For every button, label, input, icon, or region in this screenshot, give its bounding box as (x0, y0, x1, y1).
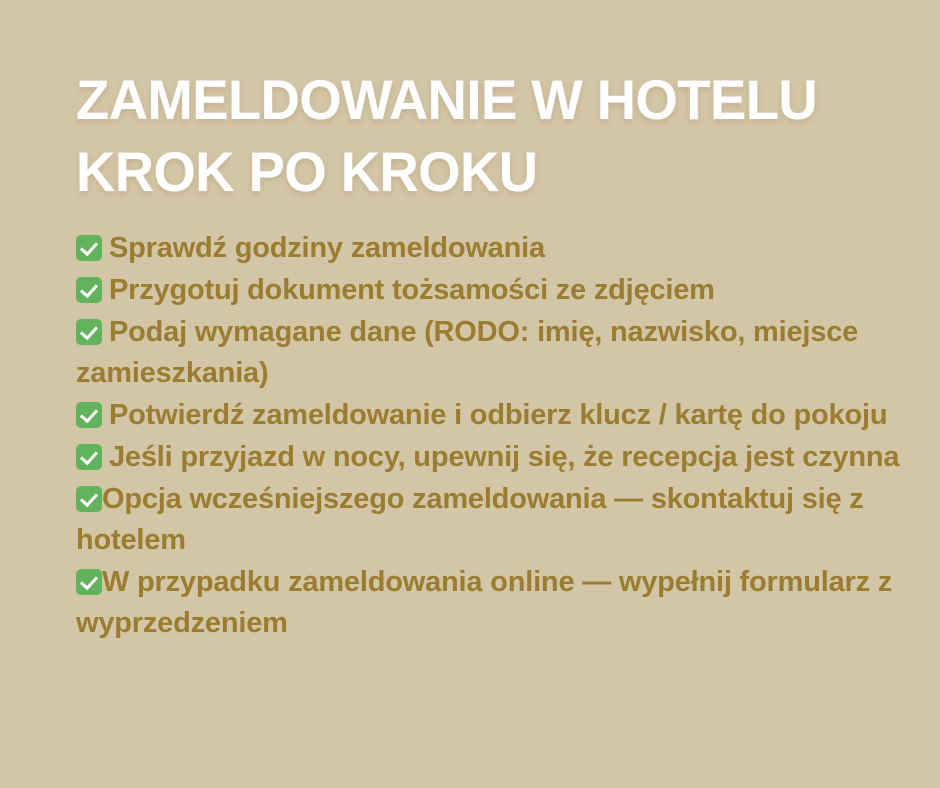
infographic-slide: ZAMELDOWANIE W HOTELU KROK PO KROKU Spra… (0, 0, 940, 788)
title-line-2: KROK PO KROKU (76, 136, 881, 208)
white-check-mark-icon (76, 319, 102, 345)
checklist-item: Przygotuj dokument tożsamości ze zdjęcie… (76, 270, 912, 311)
white-check-mark-icon (76, 277, 102, 303)
checklist-item-label: Przygotuj dokument tożsamości ze zdjęcie… (109, 274, 715, 306)
checklist-item-label: Potwierdź zameldowanie i odbierz klucz /… (109, 399, 887, 431)
white-check-mark-icon (76, 444, 102, 470)
checklist-item: W przypadku zameldowania online — wypełn… (76, 562, 912, 644)
title-line-1: ZAMELDOWANIE W HOTELU (76, 64, 881, 136)
checklist-item-label: Podaj wymagane dane (RODO: imię, nazwisk… (76, 316, 858, 389)
checklist-item: Sprawdź godziny zameldowania (76, 228, 912, 269)
checklist-item: Opcja wcześniejszego zameldowania — skon… (76, 479, 912, 561)
white-check-mark-icon (76, 235, 102, 261)
white-check-mark-icon (76, 486, 102, 512)
checklist-item: Jeśli przyjazd w nocy, upewnij się, że r… (76, 437, 912, 478)
checklist-item-label: W przypadku zameldowania online — wypełn… (76, 566, 892, 639)
white-check-mark-icon (76, 402, 102, 428)
checklist-item-label: Sprawdź godziny zameldowania (109, 232, 545, 264)
page-title: ZAMELDOWANIE W HOTELU KROK PO KROKU (76, 64, 906, 208)
checklist-item: Potwierdź zameldowanie i odbierz klucz /… (76, 395, 912, 436)
checklist-item-label: Opcja wcześniejszego zameldowania — skon… (76, 483, 864, 556)
checklist-item: Podaj wymagane dane (RODO: imię, nazwisk… (76, 312, 912, 394)
checklist: Sprawdź godziny zameldowaniaPrzygotuj do… (76, 228, 912, 645)
checklist-item-label: Jeśli przyjazd w nocy, upewnij się, że r… (109, 441, 899, 473)
white-check-mark-icon (76, 569, 102, 595)
